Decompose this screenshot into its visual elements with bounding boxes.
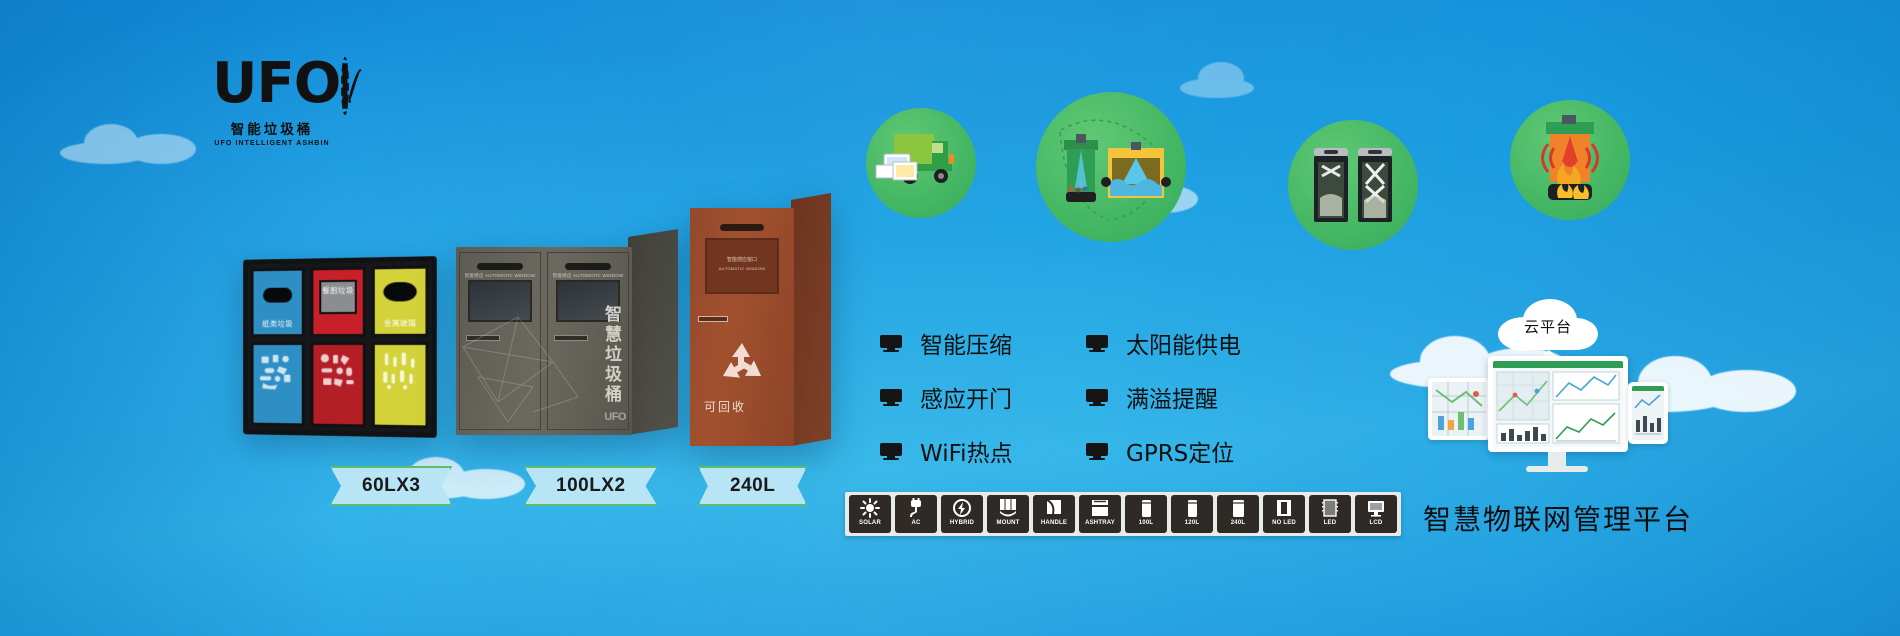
spec-label: AC [911, 520, 920, 526]
bin-capacity-ribbon-240: 240L [698, 466, 807, 506]
spec-icon-handle[interactable]: HANDLE [1033, 495, 1075, 533]
bin-compartment-paper: 纸类垃圾 [251, 268, 305, 427]
screen-en-text: AUTOMATIC WINDOW [707, 266, 778, 271]
spec-icon-hybrid[interactable]: HYBRID [941, 495, 983, 533]
polygon-graphic-icon [458, 307, 588, 427]
brand-logo: UFO 智能垃圾桶 UFO INTELLIGENT ASHBIN [212, 58, 332, 154]
monitor-icon [880, 335, 902, 351]
cloud-decoration [60, 120, 210, 166]
spec-icon-100l[interactable]: 100L [1125, 495, 1167, 533]
cloud-decoration [1180, 60, 1300, 98]
screen-cn-text: 智能感应窗口 [707, 256, 778, 263]
recycle-label: 可回收 [690, 398, 760, 415]
feature-item: GPRS定位 [1086, 434, 1287, 468]
logo-en-name: UFO INTELLIGENT ASHBIN [212, 140, 332, 147]
overflow-sensor-icon [1036, 92, 1186, 242]
spec-icon-mount[interactable]: MOUNT [987, 495, 1029, 533]
map-dashboard-icon [1432, 382, 1486, 436]
platform-title: 智慧物联网管理平台 [1408, 498, 1708, 538]
ashtray-icon [1088, 498, 1112, 519]
desktop-monitor [1488, 356, 1628, 452]
feature-label: 太阳能供电 [1126, 326, 1241, 360]
spec-icon-ac[interactable]: AC [895, 495, 937, 533]
bin-capacity-ribbon-60: 60LX3 [330, 466, 452, 506]
feature-label: 满溢提醒 [1126, 380, 1218, 414]
iot-platform-devices [1410, 356, 1700, 488]
feature-item: 满溢提醒 [1086, 380, 1287, 414]
spec-label: LED [1324, 520, 1337, 526]
bin-compartment-kitchen: 餐厨垃圾 [311, 267, 366, 428]
bin-vertical-text: 智慧垃圾桶 [599, 305, 624, 405]
monitor-base [1526, 466, 1588, 472]
solar-icon [858, 498, 882, 519]
feature-circle-fire-alarm [1510, 100, 1630, 220]
feature-label: 智能压缩 [920, 326, 1012, 360]
noled-icon [1272, 498, 1296, 519]
bin-capacity-ribbon-100: 100LX2 [524, 466, 658, 506]
phone-screen [1632, 386, 1664, 440]
panel-caption: 智能感应 AUTOMATIC WINDOW [465, 273, 536, 279]
plug-icon [904, 498, 928, 519]
trash-illustration-icon [375, 345, 426, 396]
feature-item: 太阳能供电 [1086, 326, 1287, 360]
spec-icon-lcd[interactable]: LCD [1355, 495, 1397, 533]
lcd-icon [1364, 498, 1388, 519]
spec-label: ASHTRAY [1085, 520, 1115, 526]
feature-item: 智能压缩 [880, 326, 1034, 360]
cloud-platform-badge: 云平台 [1494, 296, 1602, 356]
spec-icon-strip: SOLAR AC HYBRID [845, 492, 1401, 536]
mobile-dashboard-icon [1632, 386, 1664, 440]
spec-icon-240l[interactable]: 240L [1217, 495, 1259, 533]
compartment-label: 金属玻璃 [375, 318, 426, 329]
monitor-icon [1086, 443, 1108, 459]
feature-label: WiFi热点 [920, 434, 1013, 468]
bin-icon [1180, 498, 1204, 519]
smart-double-bin: 智能感应 AUTOMATIC WINDOW 智能感应 AUTOMATIC WIN… [456, 237, 678, 440]
spec-icon-120l[interactable]: 120L [1171, 495, 1213, 533]
compactor-bins-icon [1288, 120, 1418, 250]
feature-circle-overflow [1036, 92, 1186, 242]
phone-device [1628, 382, 1668, 444]
spec-label: LCD [1370, 520, 1383, 526]
banner-stage: UFO 智能垃圾桶 UFO INTELLIGENT ASHBIN 纸类垃圾 [0, 0, 1900, 636]
compartment-label: 餐厨垃圾 [313, 285, 362, 297]
logo-wordmark: UFO [212, 58, 340, 110]
bin-display-panel: 智能感应窗口 AUTOMATIC WINDOW [705, 238, 780, 294]
spec-label: HANDLE [1041, 520, 1067, 526]
compartment-label: 纸类垃圾 [254, 319, 302, 330]
handle-icon [1042, 498, 1066, 519]
tablet-device [1428, 378, 1490, 440]
mount-icon [996, 498, 1020, 519]
led-icon [1318, 498, 1342, 519]
spec-icon-solar[interactable]: SOLAR [849, 495, 891, 533]
feature-circle-compaction [1288, 120, 1418, 250]
spec-label: 240L [1231, 520, 1245, 526]
spec-label: 100L [1139, 520, 1153, 526]
trash-illustration-icon [313, 345, 362, 395]
spec-label: SOLAR [859, 520, 881, 526]
dashboard-screen [1493, 361, 1623, 447]
fire-alarm-icon [1510, 100, 1630, 220]
tablet-screen [1432, 382, 1486, 436]
feature-circle-truck [866, 108, 976, 218]
feature-label: GPRS定位 [1126, 434, 1234, 468]
bin-icon [1226, 498, 1250, 519]
spec-label: 120L [1185, 520, 1199, 526]
recycle-bin-240l: 智能感应窗口 AUTOMATIC WINDOW 可回收 [690, 200, 830, 446]
three-compartment-bin: 纸类垃圾 餐厨垃圾 [243, 256, 437, 438]
monitor-icon [880, 389, 902, 405]
recycle-symbol-icon [716, 340, 768, 390]
bin-compartment-metal-glass: 金属玻璃 [372, 265, 429, 428]
bin-brand-mark: UFO [604, 411, 626, 423]
bin-icon [1134, 498, 1158, 519]
feature-label: 感应开门 [920, 380, 1012, 414]
panel-caption: 智能感应 AUTOMATIC WINDOW [553, 273, 624, 279]
platform-dashboard-icon [1493, 361, 1623, 447]
collection-truck-icon [866, 108, 976, 218]
spec-icon-ashtray[interactable]: ASHTRAY [1079, 495, 1121, 533]
trash-illustration-icon [254, 345, 302, 395]
feature-item: 感应开门 [880, 380, 1034, 414]
cloud-platform-label: 云平台 [1494, 316, 1602, 337]
spec-icon-led[interactable]: LED [1309, 495, 1351, 533]
spec-label: NO LED [1272, 520, 1296, 526]
monitor-icon [880, 443, 902, 459]
spec-label: HYBRID [950, 520, 974, 526]
feature-item: WiFi热点 [880, 434, 1034, 468]
spec-label: MOUNT [997, 520, 1020, 526]
logo-cn-name: 智能垃圾桶 [212, 118, 332, 138]
spec-icon-no-led[interactable]: NO LED [1263, 495, 1305, 533]
hybrid-icon [950, 498, 974, 519]
monitor-icon [1086, 335, 1108, 351]
monitor-icon [1086, 389, 1108, 405]
